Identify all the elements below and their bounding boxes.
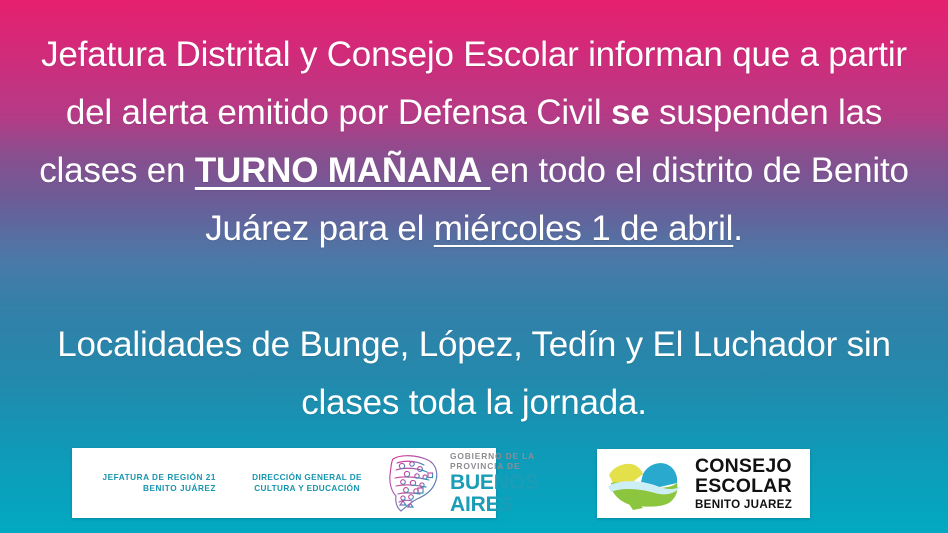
logo-strip: JEFATURA DE REGIÓN 21 BENITO JUÁREZ DIRE… [0,448,948,520]
gobierno-label: GOBIERNO DE LA PROVINCIA DE [450,451,539,471]
government-logo-banner: JEFATURA DE REGIÓN 21 BENITO JUÁREZ DIRE… [72,448,496,518]
announcement-paragraph-1: Jefatura Distrital y Consejo Escolar inf… [30,26,918,258]
paragraph-spacer [30,258,918,316]
poster-canvas: Jefatura Distrital y Consejo Escolar inf… [0,0,948,533]
jefatura-line-1: JEFATURA DE REGIÓN 21 [84,472,216,484]
announcement-paragraph-2: Localidades de Bunge, López, Tedín y El … [30,316,918,432]
provincia-map-icon [387,452,441,514]
consejo-line-3: BENITO JUAREZ [695,497,792,512]
consejo-line-2: ESCOLAR [695,476,792,496]
consejo-escolar-text: CONSEJO ESCOLAR BENITO JUAREZ [695,456,792,512]
buenos-aires-text: GOBIERNO DE LA PROVINCIA DE BUENOS AIRES [450,451,539,516]
consejo-escolar-banner: CONSEJO ESCOLAR BENITO JUAREZ [597,449,810,518]
direccion-line-2: CULTURA Y EDUCACIÓN [243,483,371,495]
jefatura-line-2: BENITO JUÁREZ [84,483,216,495]
consejo-escolar-emblem-icon [603,455,689,513]
announcement-highlight-turno-manana: TURNO MAÑANA [195,151,491,190]
consejo-line-1: CONSEJO [695,456,792,476]
announcement-bold-se: se [611,93,650,132]
jefatura-block: JEFATURA DE REGIÓN 21 BENITO JUÁREZ [84,472,216,495]
direccion-general-block: DIRECCIÓN GENERAL DE CULTURA Y EDUCACIÓN [243,472,371,495]
announcement-highlight-fecha: miércoles 1 de abril [434,209,733,248]
announcement-text: Jefatura Distrital y Consejo Escolar inf… [0,26,948,432]
buenos-aires-logo: GOBIERNO DE LA PROVINCIA DE BUENOS AIRES [387,451,539,516]
direccion-line-1: DIRECCIÓN GENERAL DE [243,472,371,484]
announcement-segment-4: . [733,209,743,248]
buenos-aires-label: BUENOS AIRES [450,472,539,516]
